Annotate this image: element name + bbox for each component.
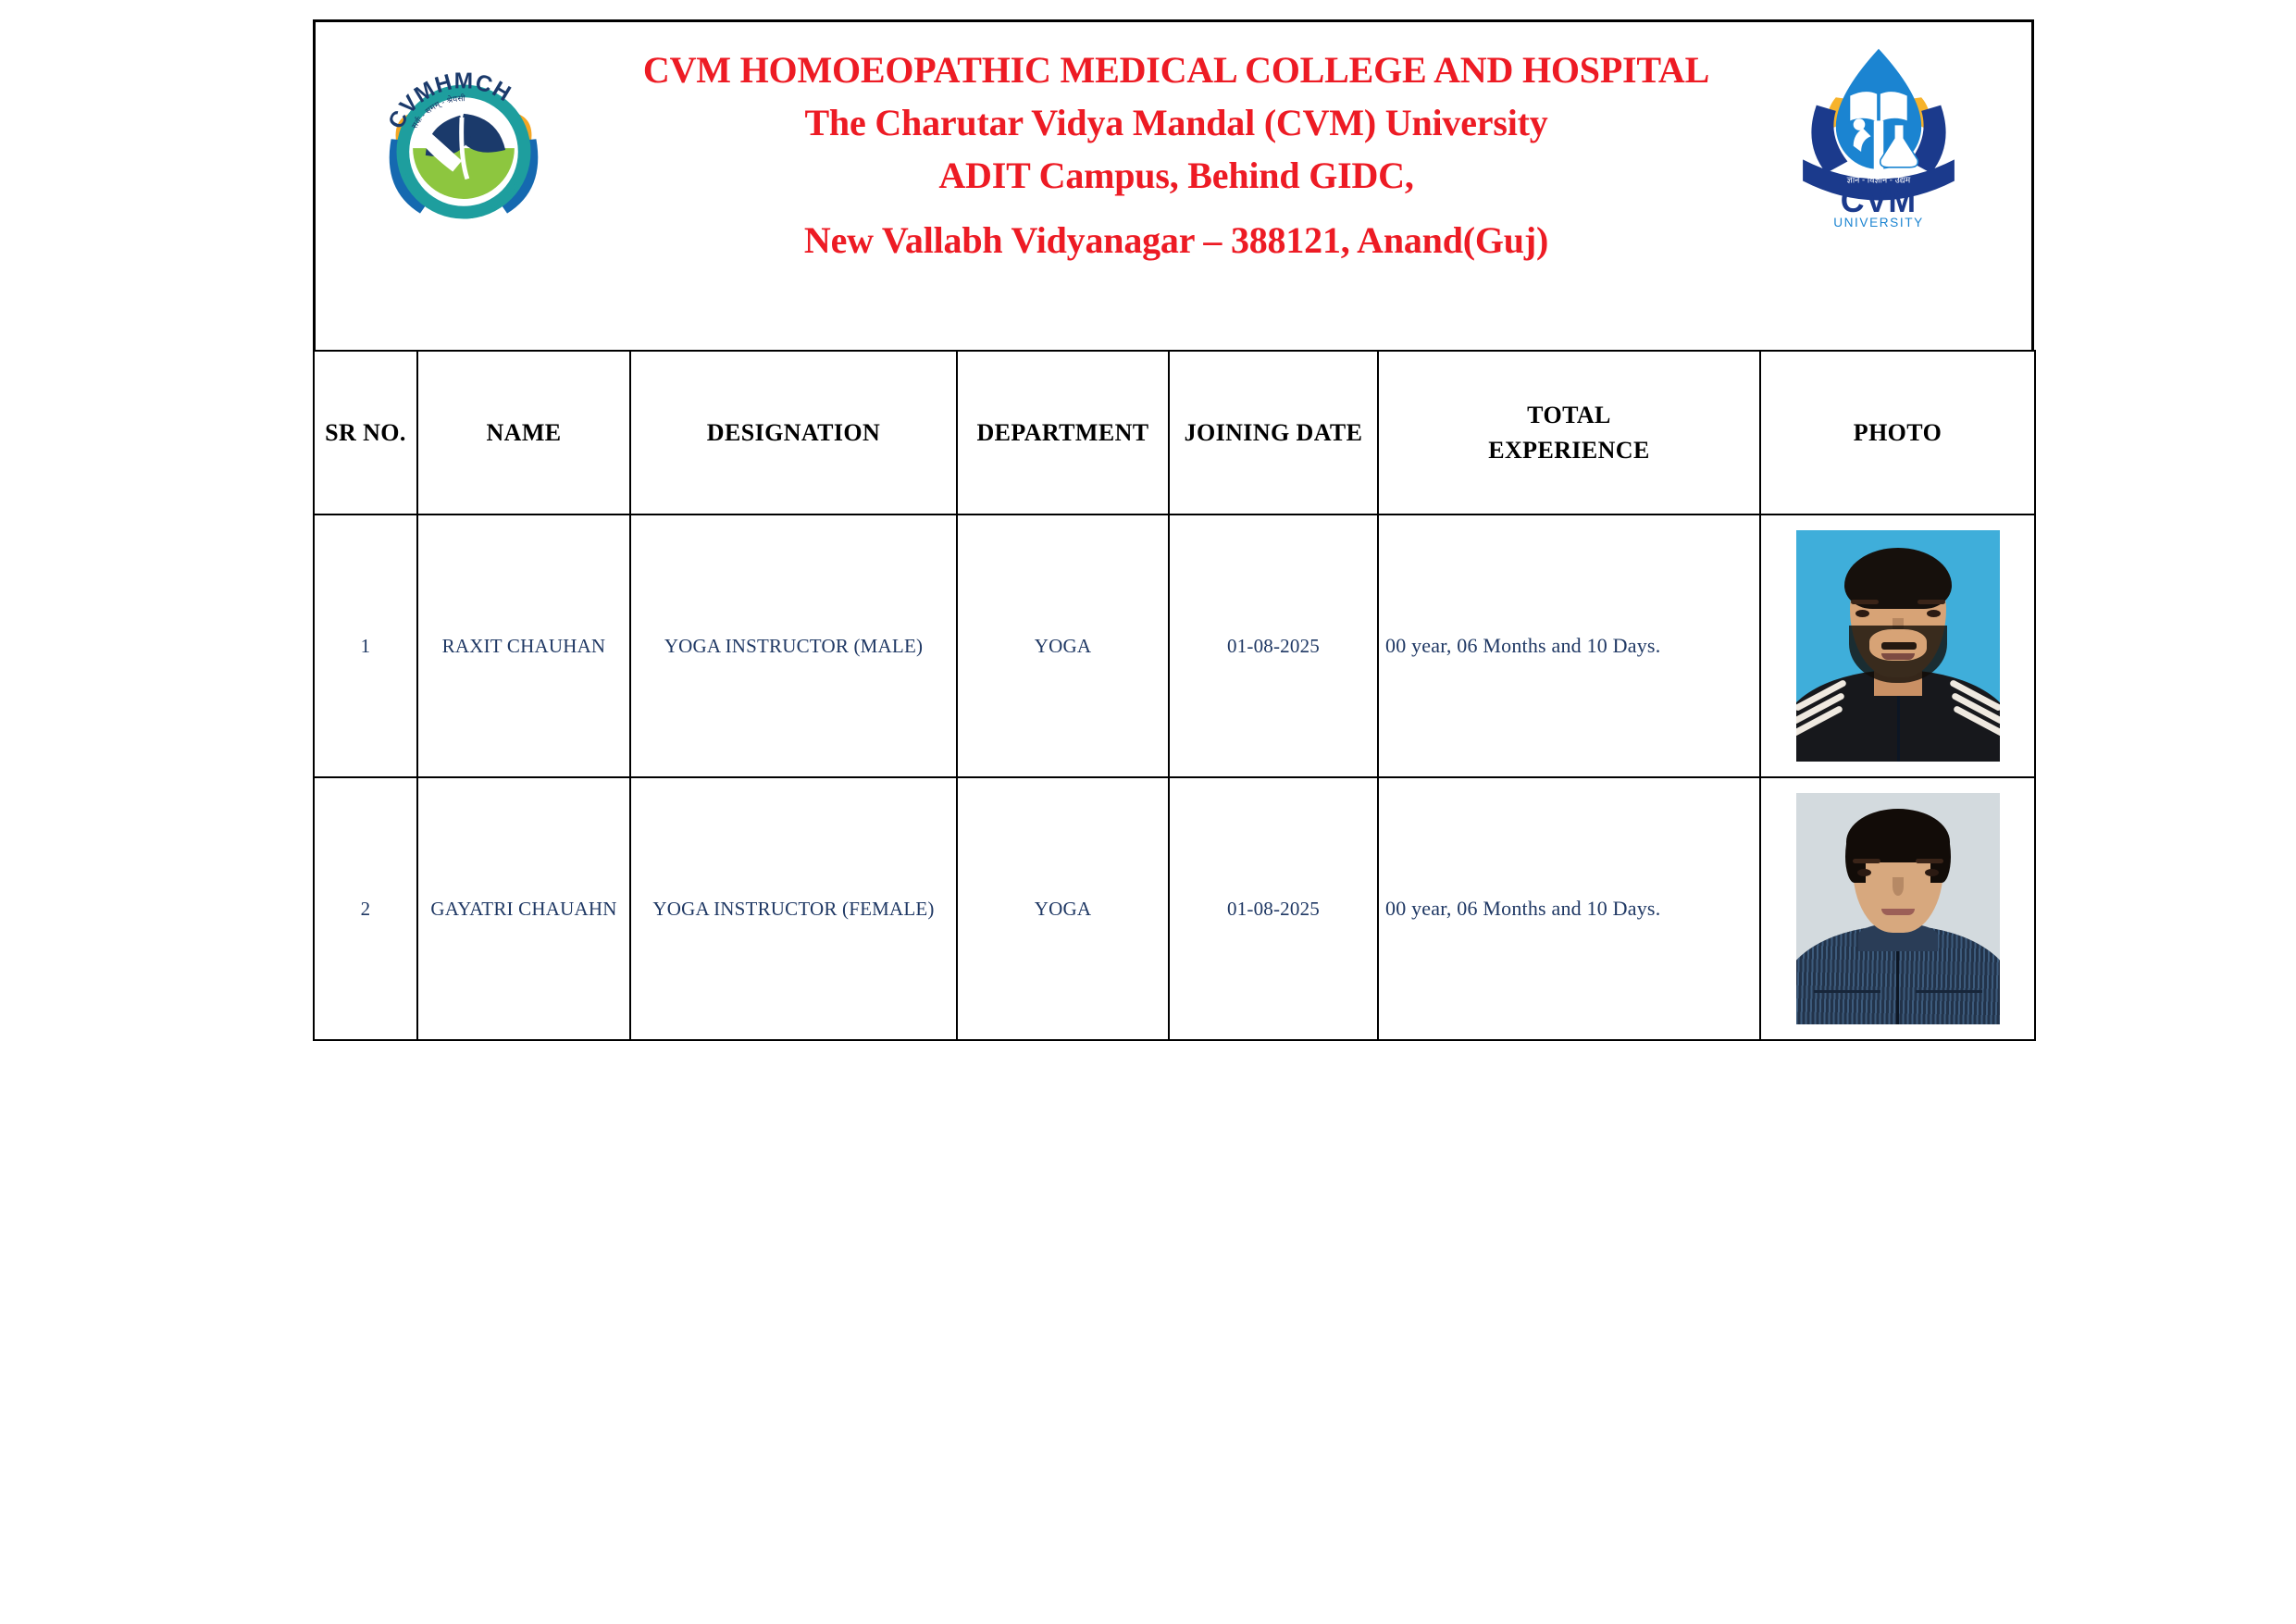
cvmhmch-logo: CVMHMCH सर्वः - समम् - श्रेयसी SIMILIA C…	[373, 61, 554, 242]
cell-sr-no: 1	[314, 514, 417, 777]
cell-photo	[1760, 514, 2035, 777]
cell-name: RAXIT CHAUHAN	[417, 514, 630, 777]
column-header-total-experience-line1: TOTAL	[1527, 402, 1611, 428]
cell-department: YOGA	[957, 514, 1169, 777]
cell-designation: YOGA INSTRUCTOR (MALE)	[630, 514, 957, 777]
table-row: 2 GAYATRI CHAUAHN YOGA INSTRUCTOR (FEMAL…	[314, 777, 2035, 1040]
cell-total-experience: 00 year, 06 Months and 10 Days.	[1378, 777, 1760, 1040]
cell-joining-date: 01-08-2025	[1169, 514, 1378, 777]
staff-table: SR NO. NAME DESIGNATION DEPARTMENT JOINI…	[313, 350, 2036, 1041]
cell-department: YOGA	[957, 777, 1169, 1040]
photo-container	[1761, 515, 2034, 776]
column-header-photo: PHOTO	[1760, 351, 2035, 514]
letterhead: CVMHMCH सर्वः - समम् - श्रेयसी SIMILIA C…	[316, 22, 2031, 351]
column-header-joining-date: JOINING DATE	[1169, 351, 1378, 514]
cell-photo	[1760, 777, 2035, 1040]
svg-text:CVM: CVM	[1841, 182, 1917, 219]
column-header-total-experience: TOTAL EXPERIENCE	[1378, 351, 1760, 514]
document-page: CVMHMCH सर्वः - समम् - श्रेयसी SIMILIA C…	[0, 0, 2296, 1624]
cvm-university-logo: ज्ञान - विज्ञान - उद्यम CVM UNIVERSITY	[1781, 35, 1976, 229]
letterhead-table: CVMHMCH सर्वः - समम् - श्रेयसी SIMILIA C…	[313, 19, 2034, 353]
cell-name: GAYATRI CHAUAHN	[417, 777, 630, 1040]
letterhead-title-line-3: ADIT Campus, Behind GIDC,	[528, 150, 1824, 203]
cell-total-experience: 00 year, 06 Months and 10 Days.	[1378, 514, 1760, 777]
column-header-sr-no: SR NO.	[314, 351, 417, 514]
svg-text:UNIVERSITY: UNIVERSITY	[1833, 216, 1924, 229]
letterhead-title-line-4: New Vallabh Vidyanagar – 388121, Anand(G…	[528, 215, 1824, 267]
photo-container	[1761, 778, 2034, 1039]
letterhead-title-line-1: CVM HOMOEOPATHIC MEDICAL COLLEGE AND HOS…	[528, 44, 1824, 97]
table-row: 1 RAXIT CHAUHAN YOGA INSTRUCTOR (MALE) Y…	[314, 514, 2035, 777]
table-header-row: SR NO. NAME DESIGNATION DEPARTMENT JOINI…	[314, 351, 2035, 514]
letterhead-cell: CVMHMCH सर्वः - समम् - श्रेयसी SIMILIA C…	[315, 21, 2033, 353]
letterhead-row: CVMHMCH सर्वः - समम् - श्रेयसी SIMILIA C…	[315, 21, 2033, 353]
column-header-total-experience-line2: EXPERIENCE	[1488, 437, 1649, 464]
column-header-department: DEPARTMENT	[957, 351, 1169, 514]
column-header-name: NAME	[417, 351, 630, 514]
photo-raxit-chauhan	[1788, 522, 2008, 770]
letterhead-title-line-2: The Charutar Vidya Mandal (CVM) Universi…	[528, 97, 1824, 150]
cell-designation: YOGA INSTRUCTOR (FEMALE)	[630, 777, 957, 1040]
column-header-designation: DESIGNATION	[630, 351, 957, 514]
cell-sr-no: 2	[314, 777, 417, 1040]
cell-joining-date: 01-08-2025	[1169, 777, 1378, 1040]
letterhead-title: CVM HOMOEOPATHIC MEDICAL COLLEGE AND HOS…	[528, 44, 1824, 267]
photo-gayatri-chauahn	[1788, 785, 2008, 1033]
